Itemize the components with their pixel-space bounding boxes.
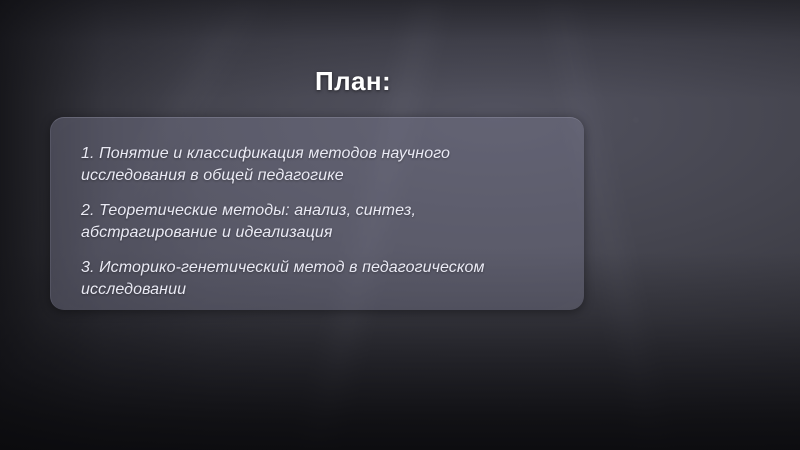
presentation-slide: План: 1. Понятие и классификация методов… [0, 0, 800, 450]
plan-item: 3. Историко-генетический метод в педагог… [81, 257, 554, 301]
plan-item: 2. Теоретические методы: анализ, синтез,… [81, 200, 554, 244]
plan-item: 1. Понятие и классификация методов научн… [81, 143, 554, 187]
slide-title: План: [0, 66, 706, 97]
plan-panel: 1. Понятие и классификация методов научн… [50, 117, 584, 310]
